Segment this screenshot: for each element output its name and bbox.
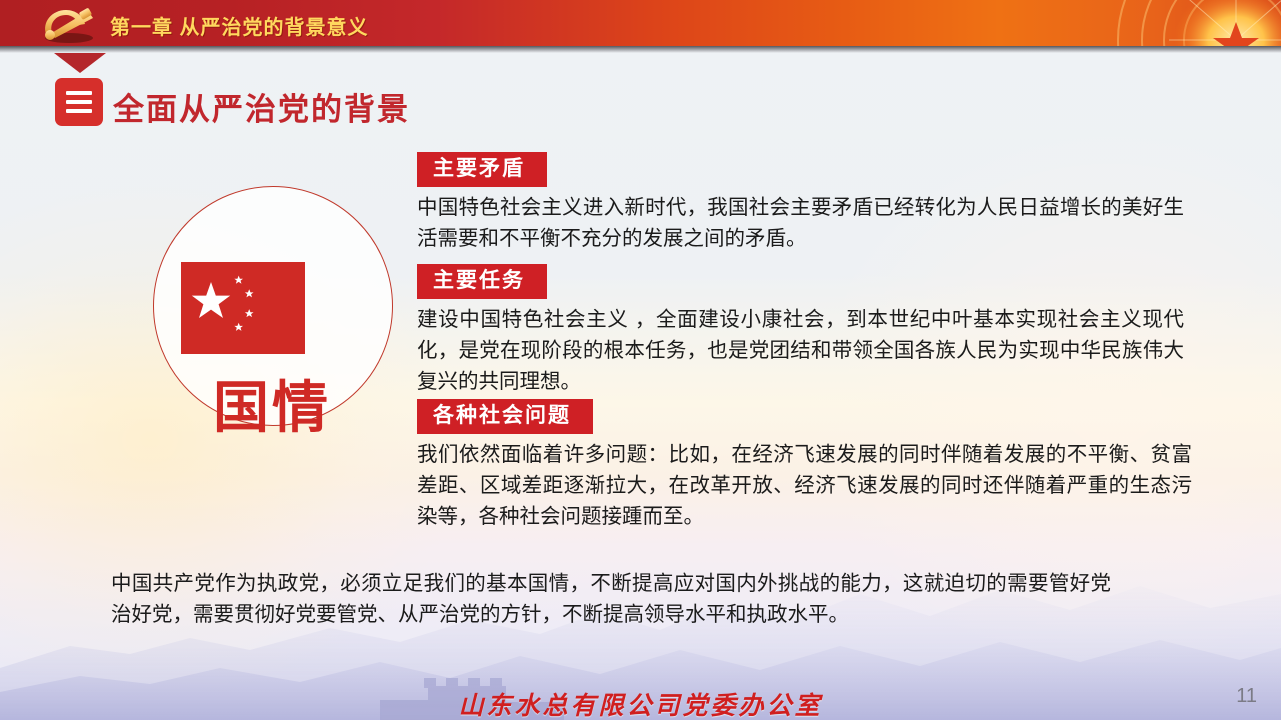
content-block-social-problems: 各种社会问题 我们依然面临着许多问题：比如，在经济飞速发展的同时伴随着发展的不平…: [417, 399, 1192, 532]
china-flag-icon: [181, 262, 305, 354]
page-number: 11: [1236, 685, 1257, 708]
section-title: 全面从严治党的背景: [113, 84, 410, 129]
three-bars-icon: [55, 78, 103, 126]
content-block-main-task: 主要任务 建设中国特色社会主义 ，全面建设小康社会，到本世纪中叶基本实现社会主义…: [417, 264, 1184, 397]
block-paragraph: 建设中国特色社会主义 ，全面建设小康社会，到本世纪中叶基本实现社会主义现代化，是…: [417, 304, 1184, 397]
slide-canvas: 第一章 从严治党的背景意义 全面从严治党的背景 国情 主要矛盾 中国特色社会主义…: [0, 0, 1281, 720]
block-tag: 各种社会问题: [417, 399, 593, 434]
slide-header-bar: 第一章 从严治党的背景意义: [0, 0, 1281, 46]
chapter-title: 第一章 从严治党的背景意义: [110, 11, 369, 40]
header-shadow: [0, 46, 1281, 53]
summary-paragraph: 中国共产党作为执政党，必须立足我们的基本国情，不断提高应对国内外挑战的能力，这就…: [111, 568, 1111, 630]
triangle-down-icon: [54, 53, 106, 73]
block-tag: 主要任务: [417, 264, 547, 299]
content-block-main-contradiction: 主要矛盾 中国特色社会主义进入新时代，我国社会主要矛盾已经转化为人民日益增长的美…: [417, 152, 1184, 254]
footer-organization: 山东水总有限公司党委办公室: [0, 686, 1281, 720]
hammer-and-sickle-emblem: [36, 4, 102, 44]
circle-label: 国情: [153, 363, 391, 444]
block-paragraph: 中国特色社会主义进入新时代，我国社会主要矛盾已经转化为人民日益增长的美好生活需要…: [417, 192, 1184, 254]
block-paragraph: 我们依然面临着许多问题：比如，在经济飞速发展的同时伴随着发展的不平衡、贫富差距、…: [417, 439, 1192, 532]
block-tag: 主要矛盾: [417, 152, 547, 187]
star-sunburst-decoration: [1051, 0, 1281, 46]
